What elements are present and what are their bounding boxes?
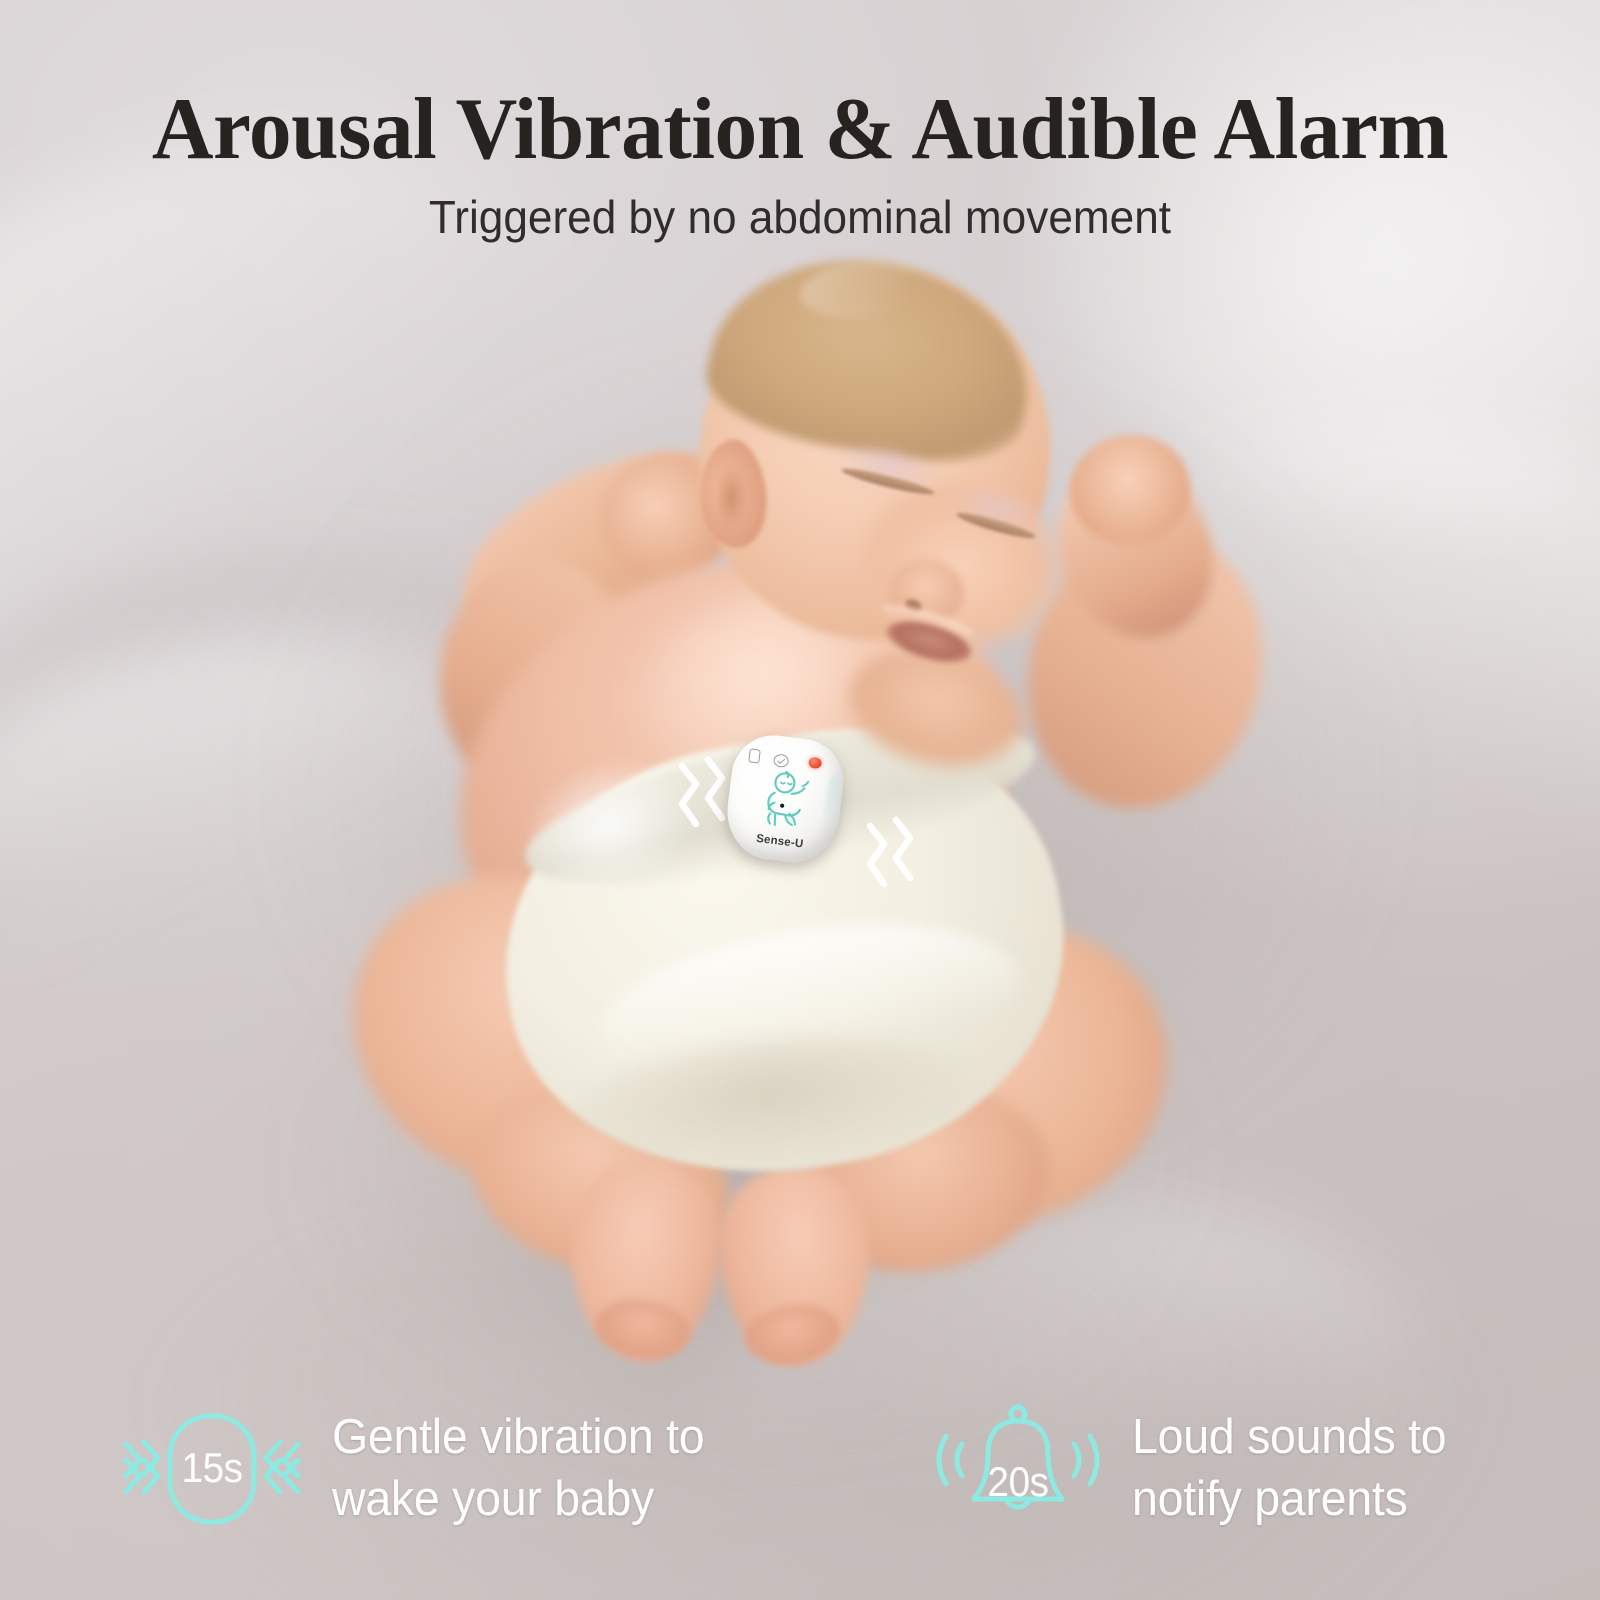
vibration-timer-icon: 15s: [118, 1398, 306, 1538]
product-feature-graphic: Sense-U Arousal Vibration & Audible Alar…: [0, 0, 1600, 1600]
battery-icon: [748, 748, 761, 763]
sleeping-baby-line-art-icon: [749, 766, 820, 835]
feature-vibration: 15s Gentle vibration to wake your baby: [118, 1398, 724, 1538]
feature-alarm-text: Loud sounds to notify parents: [1132, 1406, 1446, 1530]
bell-alarm-icon: 20s: [930, 1398, 1106, 1538]
feature-vibration-text: Gentle vibration to wake your baby: [332, 1406, 704, 1530]
alarm-duration-badge: 20s: [937, 1398, 1099, 1538]
page-title: Arousal Vibration & Audible Alarm: [24, 86, 1576, 174]
sense-u-sensor-device[interactable]: Sense-U: [722, 731, 848, 868]
vibration-wave-left: [672, 758, 732, 848]
vibration-duration-badge: 15s: [126, 1398, 299, 1538]
feature-alarm: 20s Loud sounds to notify parents: [930, 1398, 1463, 1538]
vibration-wave-right: [862, 818, 922, 908]
check-bubble-icon: [773, 753, 789, 768]
red-status-led-icon: [808, 757, 822, 770]
baby-ear-inner: [716, 468, 746, 526]
page-subtitle: Triggered by no abdominal movement: [32, 192, 1568, 243]
